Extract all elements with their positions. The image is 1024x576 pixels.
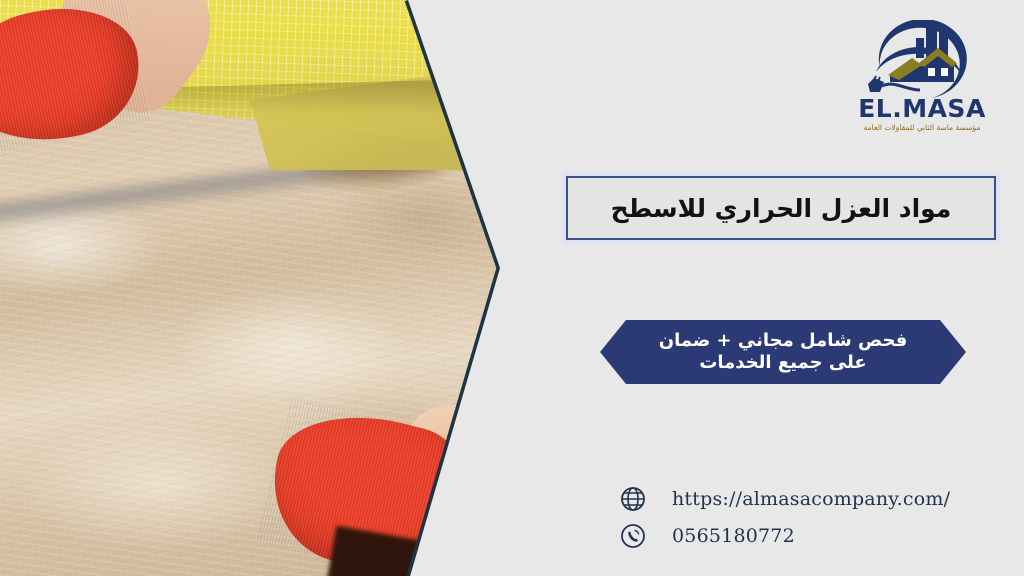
offer-banner-line-2: على جميع الخدمات (699, 352, 866, 374)
page-title: مواد العزل الحراري للاسطح (611, 194, 952, 223)
globe-icon (620, 486, 646, 512)
contact-row-website[interactable]: https://almasacompany.com/ (620, 486, 980, 512)
website-url[interactable]: https://almasacompany.com/ (672, 488, 950, 510)
house-and-buildings-logo-icon (866, 20, 982, 100)
headline-box: مواد العزل الحراري للاسطح (562, 172, 1000, 244)
logo-tagline: مؤسسة ماسة الثاني للمقاولات العامة (842, 123, 1002, 132)
hero-photo-content (0, 0, 512, 576)
contact-block: https://almasacompany.com/ 0565180772 (620, 486, 980, 560)
hero-photo (0, 0, 512, 576)
contact-row-phone[interactable]: 0565180772 (620, 523, 980, 549)
phone-circle-icon (620, 523, 646, 549)
phone-number[interactable]: 0565180772 (672, 525, 795, 547)
offer-banner: فحص شامل مجاني + ضمان على جميع الخدمات (600, 320, 966, 384)
logo-wordmark: EL.MASA (842, 94, 1002, 123)
offer-banner-line-1: فحص شامل مجاني + ضمان (659, 330, 908, 352)
company-logo: EL.MASA مؤسسة ماسة الثاني للمقاولات العا… (842, 20, 1002, 142)
